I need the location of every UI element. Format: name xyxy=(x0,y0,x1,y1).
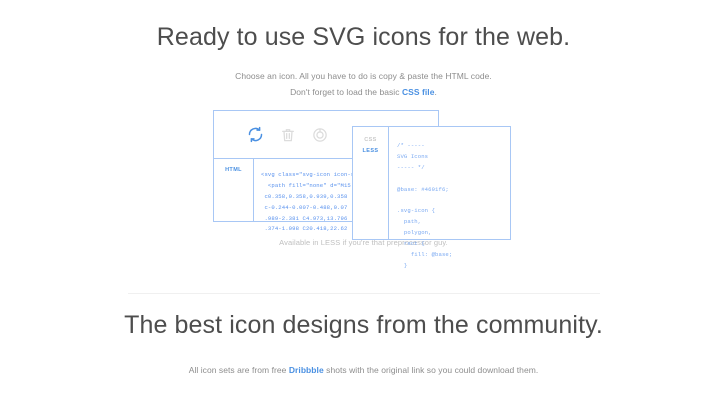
community-subtitle-block: All icon sets are from free Dribbble sho… xyxy=(0,340,727,378)
community-subtitle-suffix: shots with the original link so you coul… xyxy=(324,365,539,375)
card-vertical-rule xyxy=(253,158,254,222)
subtitle-line-2: Don't forget to load the basic CSS file. xyxy=(0,84,727,100)
code-preview-illustration: HTML <svg class="svg-icon icon-r <path f… xyxy=(0,110,727,260)
subtitle-block: Choose an icon. All you have to do is co… xyxy=(0,52,727,100)
page-title: Ready to use SVG icons for the web. xyxy=(0,0,727,52)
css-code-card: CSS LESS /* ----- SVG Icons ----- */ @ba… xyxy=(352,126,511,240)
landing-page: Ready to use SVG icons for the web. Choo… xyxy=(0,0,727,400)
html-label-column[interactable]: HTML xyxy=(214,158,253,222)
subtitle-line-2-prefix: Don't forget to load the basic xyxy=(290,87,402,97)
css-file-link[interactable]: CSS file xyxy=(402,87,435,97)
css-tab-column: CSS LESS xyxy=(353,127,388,239)
gauge-icon[interactable] xyxy=(305,120,334,149)
community-subtitle: All icon sets are from free Dribbble sho… xyxy=(0,362,727,378)
subtitle-line-1: Choose an icon. All you have to do is co… xyxy=(0,68,727,84)
community-subtitle-prefix: All icon sets are from free xyxy=(189,365,289,375)
subtitle-line-2-suffix: . xyxy=(434,87,436,97)
tab-less[interactable]: LESS xyxy=(353,146,388,156)
section-community: The best icon designs from the community… xyxy=(0,310,727,378)
community-title: The best icon designs from the community… xyxy=(0,310,727,340)
dribbble-link[interactable]: Dribbble xyxy=(289,365,324,375)
section-divider xyxy=(128,293,600,294)
html-tab-label: HTML xyxy=(225,167,242,173)
css-code-block: /* ----- SVG Icons ----- */ @base: #4691… xyxy=(397,141,507,272)
css-vertical-rule xyxy=(388,127,389,239)
refresh-icon[interactable] xyxy=(241,120,270,149)
trash-icon[interactable] xyxy=(273,120,302,149)
section-svg-icons: Ready to use SVG icons for the web. Choo… xyxy=(0,0,727,260)
tab-css[interactable]: CSS xyxy=(353,135,388,145)
